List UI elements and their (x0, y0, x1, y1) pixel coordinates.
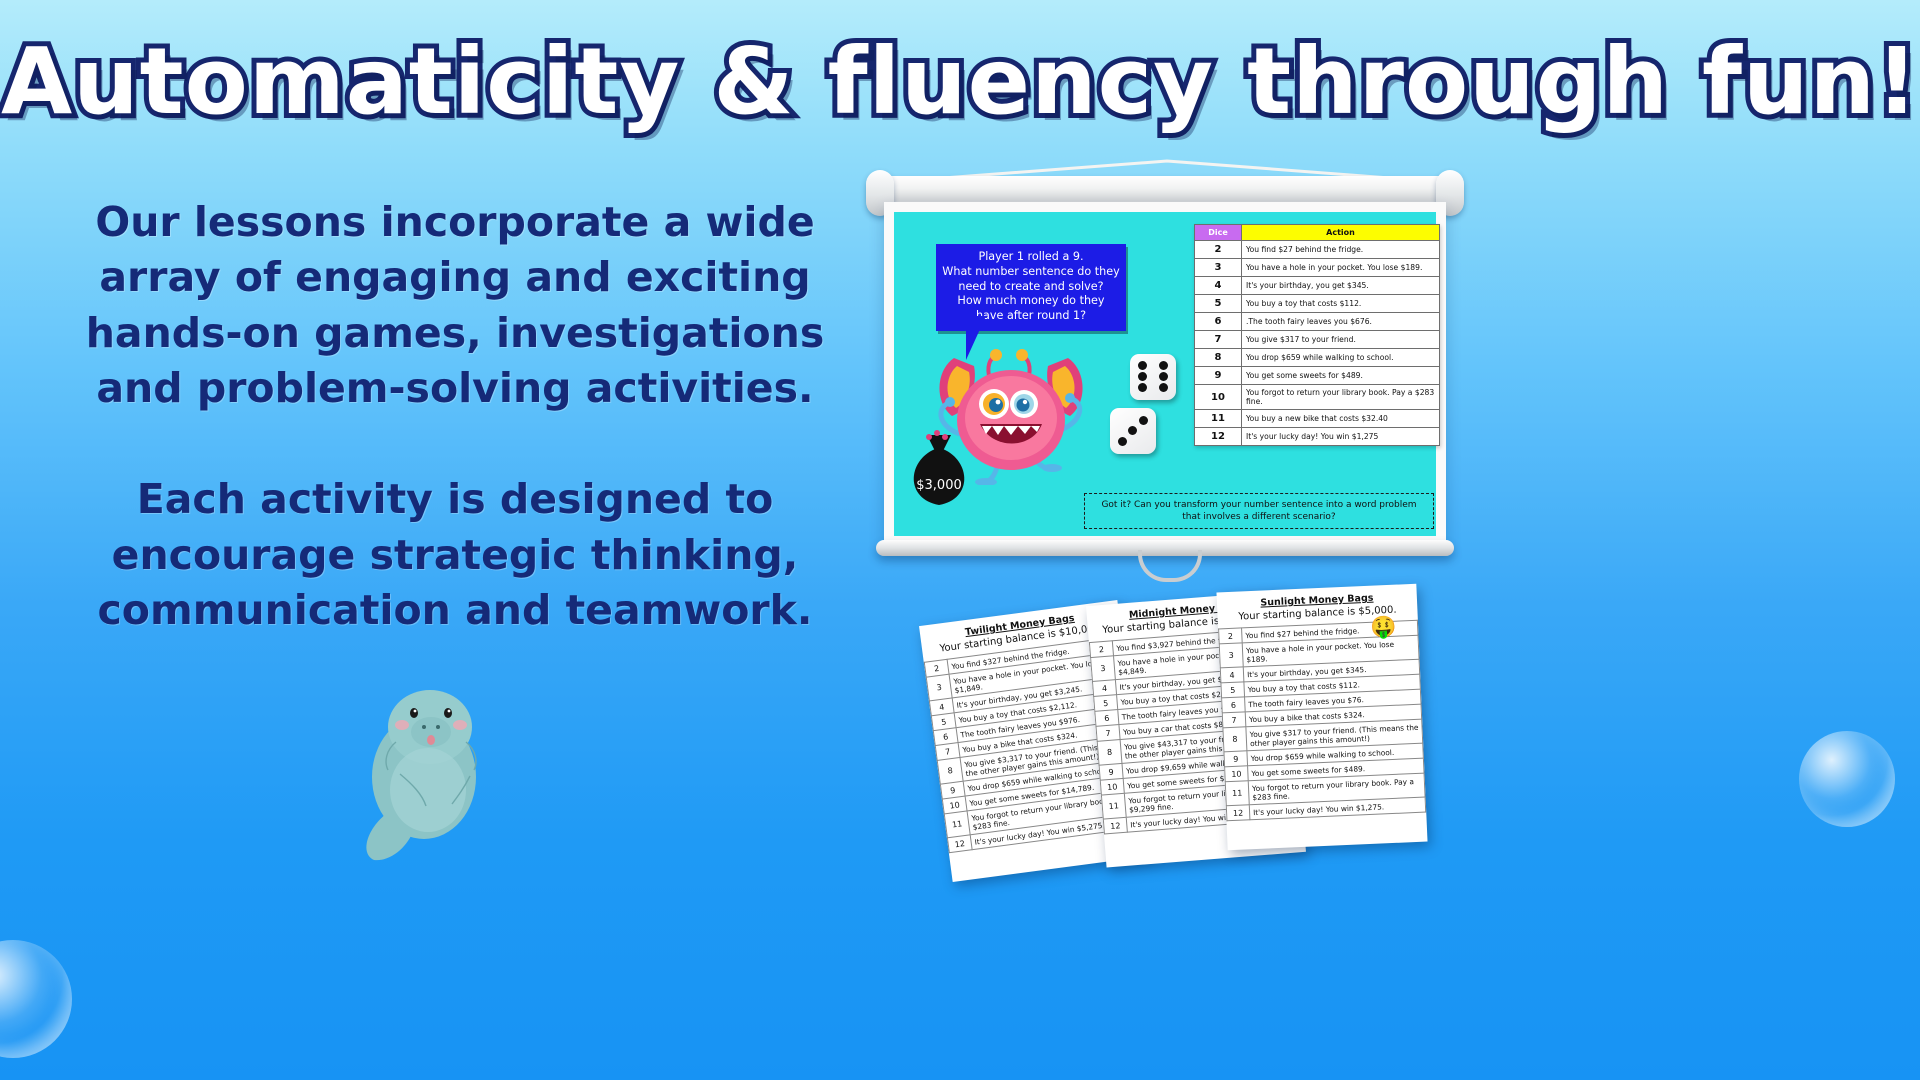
cell-action: You find $27 behind the fridge. (1242, 241, 1440, 259)
cell-dice: 10 (1195, 385, 1242, 410)
worksheet-cell-number: 9 (1224, 751, 1248, 767)
cell-action: You forgot to return your library book. … (1242, 385, 1440, 410)
table-row: 11You buy a new bike that costs $32.40 (1195, 410, 1440, 428)
table-row: 7You give $317 to your friend. (1195, 331, 1440, 349)
cell-action: You buy a toy that costs $112. (1242, 295, 1440, 313)
die-six (1130, 354, 1176, 400)
cell-dice: 11 (1195, 410, 1242, 428)
cell-dice: 2 (1195, 241, 1242, 259)
worksheet-cell-number: 11 (944, 811, 970, 838)
worksheet-cell-number: 10 (1225, 766, 1249, 782)
screen-canvas: Player 1 rolled a 9. What number sentenc… (884, 202, 1446, 546)
table-row: 12It's your lucky day! You win $1,275 (1195, 428, 1440, 446)
paragraph-1: Our lessons incorporate a wide array of … (60, 195, 850, 416)
dice-action-table: Dice Action 2You find $27 behind the fri… (1194, 224, 1440, 446)
cell-action: .The tooth fairy leaves you $676. (1242, 313, 1440, 331)
bubble-decoration-left (0, 940, 72, 1058)
worksheet-cell-number: 12 (1226, 805, 1250, 821)
worksheet-cell-number: 11 (1101, 793, 1126, 819)
worksheet-cell-number: 6 (1222, 697, 1246, 713)
cell-dice: 12 (1195, 428, 1242, 446)
screen-slide-background: Player 1 rolled a 9. What number sentenc… (894, 212, 1436, 536)
cell-dice: 8 (1195, 349, 1242, 367)
cell-dice: 7 (1195, 331, 1242, 349)
projector-screen: Player 1 rolled a 9. What number sentenc… (866, 150, 1466, 570)
worksheet-cell-number: 4 (1220, 667, 1244, 683)
cell-action: You drop $659 while walking to school. (1242, 349, 1440, 367)
cell-action: It's your lucky day! You win $1,275 (1242, 428, 1440, 446)
worksheet-cell-number: 3 (1091, 656, 1116, 682)
table-header-row: Dice Action (1195, 225, 1440, 241)
worksheet-cell-number: 8 (937, 757, 963, 784)
column-header-action: Action (1242, 225, 1440, 241)
worksheet-cell-number: 11 (1225, 781, 1249, 806)
worksheet-cell-number: 8 (1223, 727, 1247, 752)
money-mouth-emoji-icon: 🤑 (1370, 615, 1397, 641)
table-row: 2You find $27 behind the fridge. (1195, 241, 1440, 259)
worksheet-sunlight[interactable]: Sunlight Money Bags Your starting balanc… (1216, 584, 1427, 850)
table-row: 6.The tooth fairy leaves you $676. (1195, 313, 1440, 331)
cell-dice: 5 (1195, 295, 1242, 313)
svg-text:$3,000: $3,000 (916, 478, 962, 493)
worksheet-table: 2You find $27 behind the fridge.3You hav… (1218, 620, 1426, 822)
column-header-dice: Dice (1195, 225, 1242, 241)
page-title: Automaticity & fluency through fun! (0, 28, 1920, 135)
extension-prompt-box: Got it? Can you transform your number se… (1084, 493, 1434, 529)
worksheet-cell-number: 2 (1219, 628, 1243, 644)
table-row: 4It's your birthday, you get $345. (1195, 277, 1440, 295)
cell-dice: 9 (1195, 367, 1242, 385)
table-row: 9You get some sweets for $489. (1195, 367, 1440, 385)
cell-action: You buy a new bike that costs $32.40 (1242, 410, 1440, 428)
table-row: 3You have a hole in your pocket. You los… (1195, 259, 1440, 277)
table-row: 10You forgot to return your library book… (1195, 385, 1440, 410)
cell-dice: 6 (1195, 313, 1242, 331)
manatee-mascot-icon (352, 672, 502, 862)
worksheet-cell-number: 7 (1222, 712, 1246, 728)
body-copy: Our lessons incorporate a wide array of … (60, 195, 850, 638)
cell-dice: 4 (1195, 277, 1242, 295)
money-bag-icon: $3,000 (899, 427, 979, 509)
cell-dice: 3 (1195, 259, 1242, 277)
cell-action: You give $317 to your friend. (1242, 331, 1440, 349)
worksheet-cell-number: 8 (1097, 739, 1122, 765)
die-three (1110, 408, 1156, 454)
cell-action: You have a hole in your pocket. You lose… (1242, 259, 1440, 277)
paragraph-2: Each activity is designed to encourage s… (60, 472, 850, 638)
table-row: 8You drop $659 while walking to school. (1195, 349, 1440, 367)
bubble-decoration-right (1799, 731, 1895, 827)
table-row: 5You buy a toy that costs $112. (1195, 295, 1440, 313)
speech-bubble: Player 1 rolled a 9. What number sentenc… (936, 244, 1126, 331)
cell-action: It's your birthday, you get $345. (1242, 277, 1440, 295)
screen-pull-handle[interactable] (1138, 550, 1202, 582)
cell-action: You get some sweets for $489. (1242, 367, 1440, 385)
worksheet-cell-number: 12 (947, 835, 972, 853)
worksheet-cell-number: 12 (1103, 817, 1127, 834)
worksheet-cell-number: 3 (1219, 643, 1243, 668)
worksheet-cell-number: 3 (926, 674, 952, 701)
worksheet-cell-number: 5 (1221, 682, 1245, 698)
